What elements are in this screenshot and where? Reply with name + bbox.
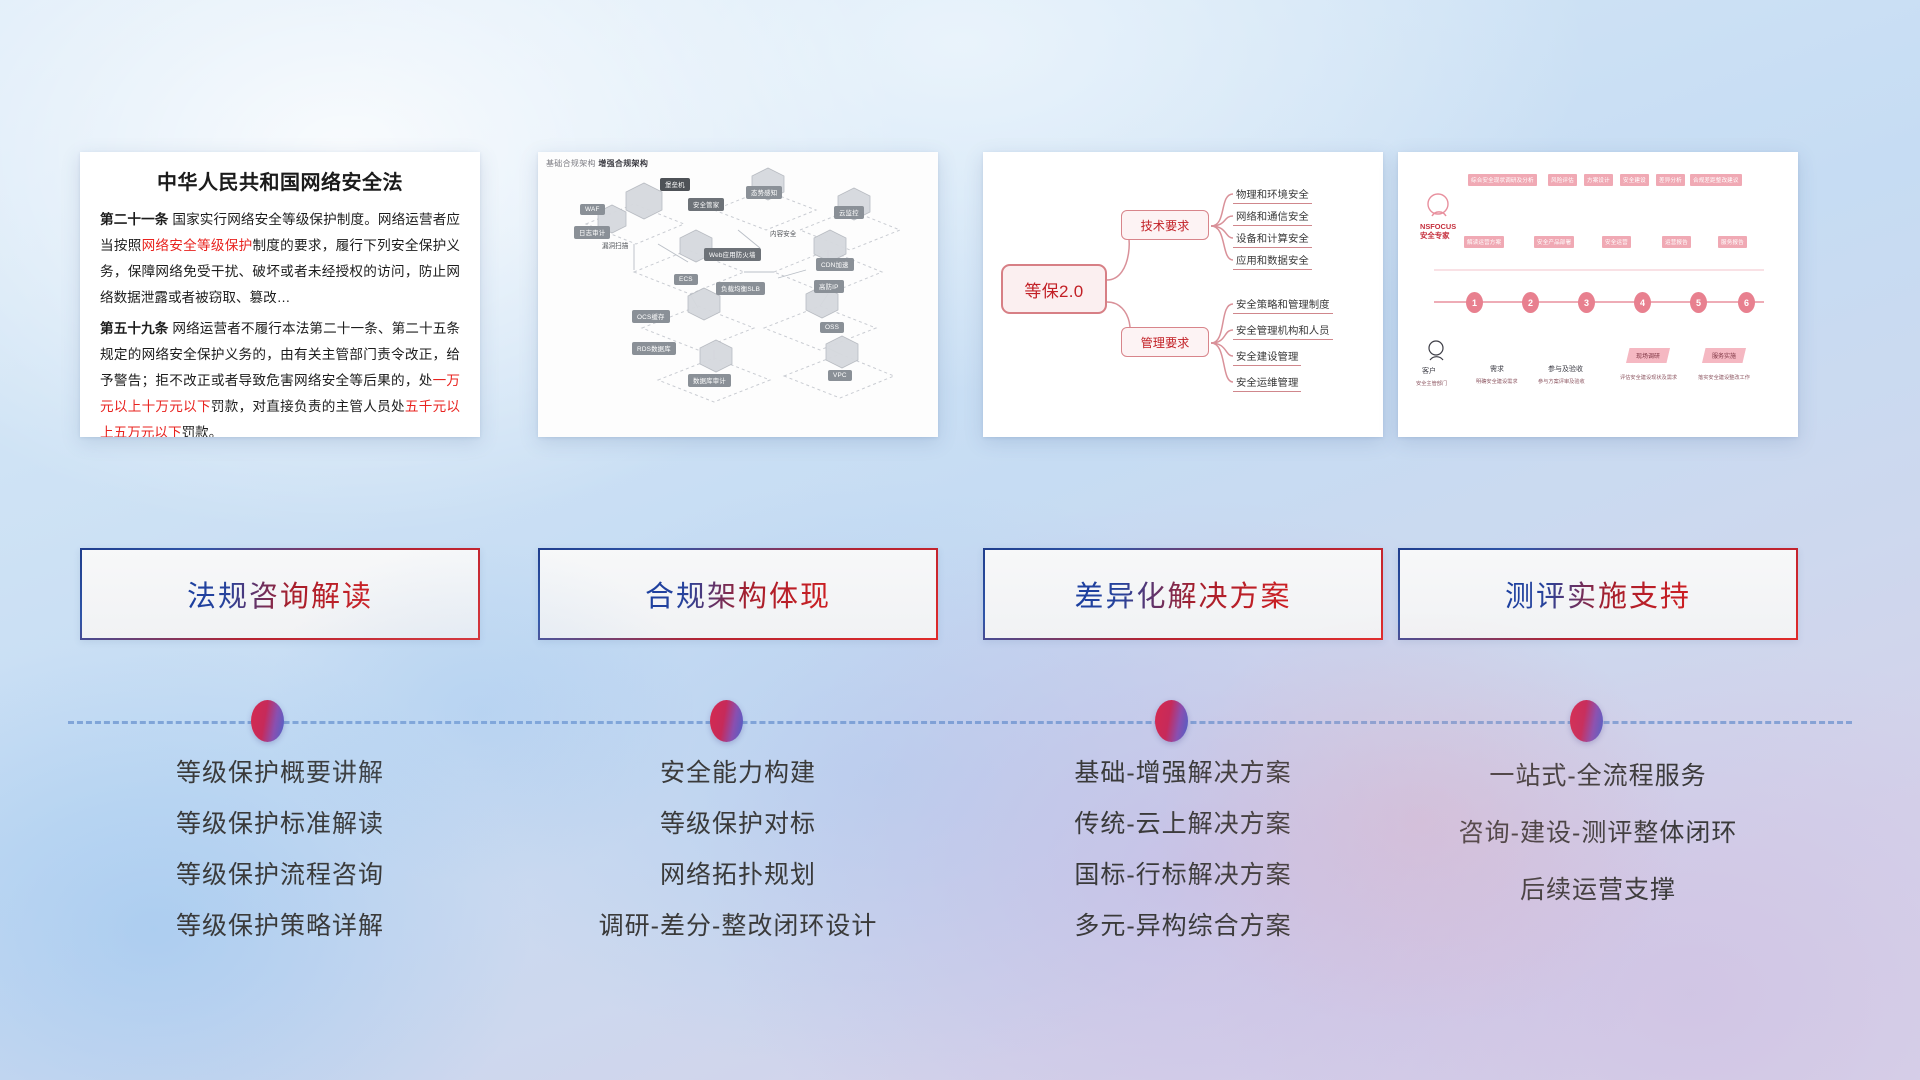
- arch-node-bastion: 堡垒机: [660, 178, 690, 191]
- pill-differentiated-solution[interactable]: 差异化解决方案: [983, 548, 1383, 640]
- arch-node-security-butler: 安全管家: [688, 198, 724, 211]
- detail-column-1: 等级保护概要讲解 等级保护标准解读 等级保护流程咨询 等级保护策略详解: [80, 748, 480, 952]
- list-item: 一站式-全流程服务: [1398, 748, 1798, 805]
- arch-node-waf: WAF: [580, 204, 605, 215]
- law-article-59-text-c: 罚款。: [182, 425, 223, 437]
- detail-list-row: 等级保护概要讲解 等级保护标准解读 等级保护流程咨询 等级保护策略详解 安全能力…: [0, 748, 1920, 1008]
- list-item: 传统-云上解决方案: [983, 799, 1383, 850]
- roadmap-step-4: 4: [1634, 292, 1651, 313]
- roadmap-brand: NSFOCUS 安全专家: [1420, 222, 1456, 240]
- list-item: 调研-差分-整改闭环设计: [538, 901, 938, 952]
- list-item: 基础-增强解决方案: [983, 748, 1383, 799]
- roadmap-mid-chip-4: 运营报告: [1662, 236, 1691, 248]
- headline-pill-row: 法规咨询解读 合规架构体现 差异化解决方案 测评实施支持: [0, 548, 1920, 644]
- roadmap-customer-sub: 安全主管部门: [1416, 380, 1447, 387]
- arch-node-cloud-monitor: 云监控: [834, 206, 864, 219]
- law-title: 中华人民共和国网络安全法: [100, 166, 460, 195]
- list-item: 等级保护流程咨询: [80, 850, 480, 901]
- roadmap-top-chip-4: 安全建设: [1620, 174, 1649, 186]
- list-item: 等级保护概要讲解: [80, 748, 480, 799]
- detail-column-3: 基础-增强解决方案 传统-云上解决方案 国标-行标解决方案 多元-异构综合方案: [983, 748, 1383, 952]
- roadmap-para-sub-1: 评估安全建设现状及需求: [1620, 374, 1677, 381]
- mindmap-branch-technical: 技术要求: [1121, 210, 1209, 240]
- roadmap-lower-sub-2: 参与方案评审及验收: [1538, 378, 1585, 385]
- card-cloud-architecture[interactable]: 基础合规架构 增强合规架构: [538, 152, 938, 437]
- roadmap-mid-chip-5: 服务报告: [1718, 236, 1747, 248]
- card-cybersecurity-law[interactable]: 中华人民共和国网络安全法 第二十一条 国家实行网络安全等级保护制度。网络运营者应…: [80, 152, 480, 437]
- mindmap-leaf-org: 安全管理机构和人员: [1233, 322, 1333, 340]
- arch-node-web-firewall: Web应用防火墙: [704, 248, 761, 261]
- pill-compliance-architecture[interactable]: 合规架构体现: [538, 548, 938, 640]
- arch-node-ocs: OCS缓存: [632, 310, 670, 323]
- arch-label-content-safety: 内容安全: [770, 228, 796, 238]
- roadmap-top-chip-2: 风险评估: [1548, 174, 1577, 186]
- mindmap-leaf-construction: 安全建设管理: [1233, 348, 1301, 366]
- roadmap-baseline: [1398, 152, 1798, 437]
- pill-evaluation-support-label: 测评实施支持: [1505, 573, 1691, 615]
- roadmap-mid-chip-1: 解读运营方案: [1464, 236, 1504, 248]
- roadmap-brand-line1: NSFOCUS: [1420, 222, 1456, 231]
- law-article-59: 第五十九条 网络运营者不履行本法第二十一条、第二十五条规定的网络安全保护义务的，…: [100, 316, 460, 437]
- list-item: 等级保护策略详解: [80, 901, 480, 952]
- pill-compliance-architecture-label: 合规架构体现: [645, 573, 831, 615]
- roadmap-lower-sub-1: 明确安全建设需求: [1476, 378, 1518, 385]
- arch-label-vuln-scan: 漏洞扫描: [602, 240, 628, 250]
- architecture-diagram: 基础合规架构 增强合规架构: [538, 152, 938, 437]
- roadmap-top-chip-1: 综合安全现状调研及分析: [1468, 174, 1537, 186]
- roadmap-step-1: 1: [1466, 292, 1483, 313]
- roadmap-step-2: 2: [1522, 292, 1539, 313]
- law-article-21: 第二十一条 国家实行网络安全等级保护制度。网络运营者应当按照网络安全等级保护制度…: [100, 207, 460, 311]
- arch-node-ecs: ECS: [674, 274, 698, 285]
- roadmap-top-chip-6: 合规差距整改建议: [1690, 174, 1742, 186]
- mindmap-leaf-physical: 物理和环境安全: [1233, 186, 1312, 204]
- roadmap-lower-chip-1: 需求: [1490, 364, 1504, 374]
- roadmap-brand-line2: 安全专家: [1420, 231, 1450, 240]
- roadmap-step-3: 3: [1578, 292, 1595, 313]
- timeline: [0, 700, 1920, 744]
- pill-legal-consulting[interactable]: 法规咨询解读: [80, 548, 480, 640]
- timeline-dot-4[interactable]: [1570, 700, 1603, 742]
- law-article-21-label: 第二十一条: [100, 212, 169, 227]
- list-item: 国标-行标解决方案: [983, 850, 1383, 901]
- law-document: 中华人民共和国网络安全法 第二十一条 国家实行网络安全等级保护制度。网络运营者应…: [80, 152, 480, 437]
- card-nsfocus-roadmap[interactable]: NSFOCUS 安全专家 综合安全现状调研及分析 风险评估 方案设计 安全建设 …: [1398, 152, 1798, 437]
- mindmap-root-node: 等保2.0: [1001, 264, 1107, 314]
- roadmap-para-sub-2: 落实安全建设整改工作: [1698, 374, 1750, 381]
- detail-column-4: 一站式-全流程服务 咨询-建设-测评整体闭环 后续运营支撑: [1398, 748, 1798, 919]
- roadmap-para-2: 服务实施: [1702, 348, 1746, 363]
- arch-node-anti-ddos: 高防IP: [814, 280, 844, 293]
- arch-node-vpc: VPC: [828, 370, 852, 381]
- list-item: 等级保护对标: [538, 799, 938, 850]
- mindmap-branch-management: 管理要求: [1121, 327, 1209, 357]
- law-article-59-text-b: 罚款，对直接负责的主管人员处: [211, 399, 405, 414]
- list-item: 网络拓扑规划: [538, 850, 938, 901]
- mindmap-leaf-application: 应用和数据安全: [1233, 252, 1312, 270]
- roadmap-diagram: NSFOCUS 安全专家 综合安全现状调研及分析 风险评估 方案设计 安全建设 …: [1398, 152, 1798, 437]
- roadmap-para-1: 现场调研: [1626, 348, 1670, 363]
- roadmap-mid-chip-2: 安全产品部署: [1534, 236, 1574, 248]
- timeline-dot-3[interactable]: [1155, 700, 1188, 742]
- arch-node-db-audit: 数据库审计: [688, 374, 731, 387]
- mindmap-leaf-network: 网络和通信安全: [1233, 208, 1312, 226]
- arch-node-slb: 负载均衡SLB: [716, 282, 765, 295]
- list-item: 多元-异构综合方案: [983, 901, 1383, 952]
- arch-node-cdn: CDN加速: [816, 258, 854, 271]
- list-item: 咨询-建设-测评整体闭环: [1398, 805, 1798, 862]
- arch-node-situation: 态势感知: [746, 186, 782, 199]
- list-item: 后续运营支撑: [1398, 862, 1798, 919]
- roadmap-top-chip-3: 方案设计: [1584, 174, 1613, 186]
- mindmap-diagram: 等保2.0 技术要求 管理要求 物理和环境安全 网络和通信安全 设备和计算安全 …: [983, 152, 1383, 437]
- law-article-21-highlight: 网络安全等级保护: [142, 238, 253, 253]
- detail-column-2: 安全能力构建 等级保护对标 网络拓扑规划 调研-差分-整改闭环设计: [538, 748, 938, 952]
- card-mindmap-dengbao[interactable]: 等保2.0 技术要求 管理要求 物理和环境安全 网络和通信安全 设备和计算安全 …: [983, 152, 1383, 437]
- pill-differentiated-solution-label: 差异化解决方案: [1074, 573, 1291, 615]
- pill-legal-consulting-label: 法规咨询解读: [187, 573, 373, 615]
- arch-node-oss: OSS: [820, 322, 844, 333]
- roadmap-step-5: 5: [1690, 292, 1707, 313]
- roadmap-mid-chip-3: 安全运营: [1602, 236, 1631, 248]
- slide-canvas: 中华人民共和国网络安全法 第二十一条 国家实行网络安全等级保护制度。网络运营者应…: [0, 0, 1920, 1080]
- roadmap-customer-label: 客户: [1422, 366, 1436, 376]
- list-item: 安全能力构建: [538, 748, 938, 799]
- roadmap-step-6: 6: [1738, 292, 1755, 313]
- list-item: 等级保护标准解读: [80, 799, 480, 850]
- roadmap-lower-chip-2: 参与及验收: [1548, 364, 1583, 374]
- arch-node-log-audit: 日志审计: [574, 226, 610, 239]
- mindmap-leaf-operations: 安全运维管理: [1233, 374, 1301, 392]
- roadmap-top-chip-5: 差异分析: [1656, 174, 1685, 186]
- timeline-dot-1[interactable]: [251, 700, 284, 742]
- timeline-dot-2[interactable]: [710, 700, 743, 742]
- pill-evaluation-support[interactable]: 测评实施支持: [1398, 548, 1798, 640]
- mindmap-leaf-device: 设备和计算安全: [1233, 230, 1312, 248]
- thumbnail-card-row: 中华人民共和国网络安全法 第二十一条 国家实行网络安全等级保护制度。网络运营者应…: [0, 152, 1920, 452]
- law-article-59-label: 第五十九条: [100, 321, 169, 336]
- arch-node-rds: RDS数据库: [632, 342, 676, 355]
- mindmap-leaf-policy: 安全策略和管理制度: [1233, 296, 1333, 314]
